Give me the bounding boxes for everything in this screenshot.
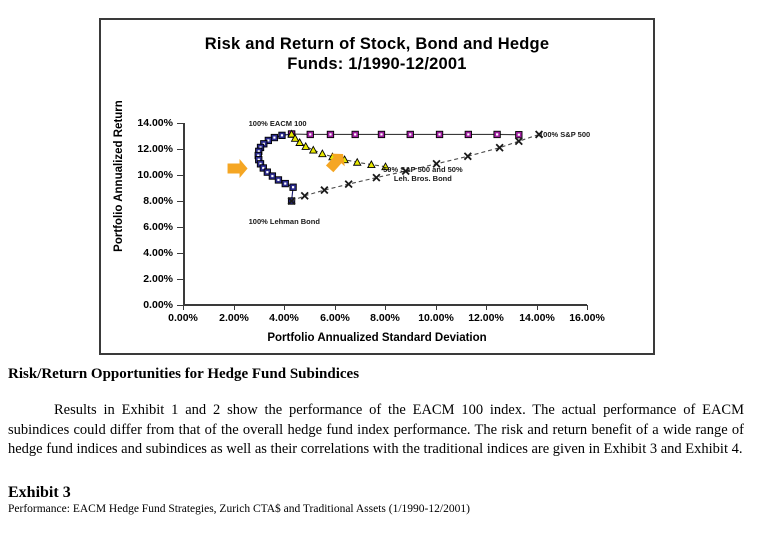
arrow-left	[228, 159, 248, 178]
plot-area: 14.00% 12.00% 10.00% 8.00% 6.00% 4.00% 2…	[101, 20, 653, 353]
callout-layer	[101, 20, 657, 357]
document-body: Risk/Return Opportunities for Hedge Fund…	[8, 366, 752, 515]
exhibit-2-chart: Risk and Return of Stock, Bond and Hedge…	[99, 18, 655, 355]
section-heading: Risk/Return Opportunities for Hedge Fund…	[8, 366, 752, 383]
document-page: Risk and Return of Stock, Bond and Hedge…	[0, 0, 760, 557]
body-paragraph: Results in Exhibit 1 and 2 show the perf…	[8, 401, 744, 460]
exhibit-heading: Exhibit 3	[8, 484, 752, 502]
arrow-middle	[323, 148, 351, 176]
exhibit-subtitle: Performance: EACM Hedge Fund Strategies,…	[8, 503, 752, 515]
